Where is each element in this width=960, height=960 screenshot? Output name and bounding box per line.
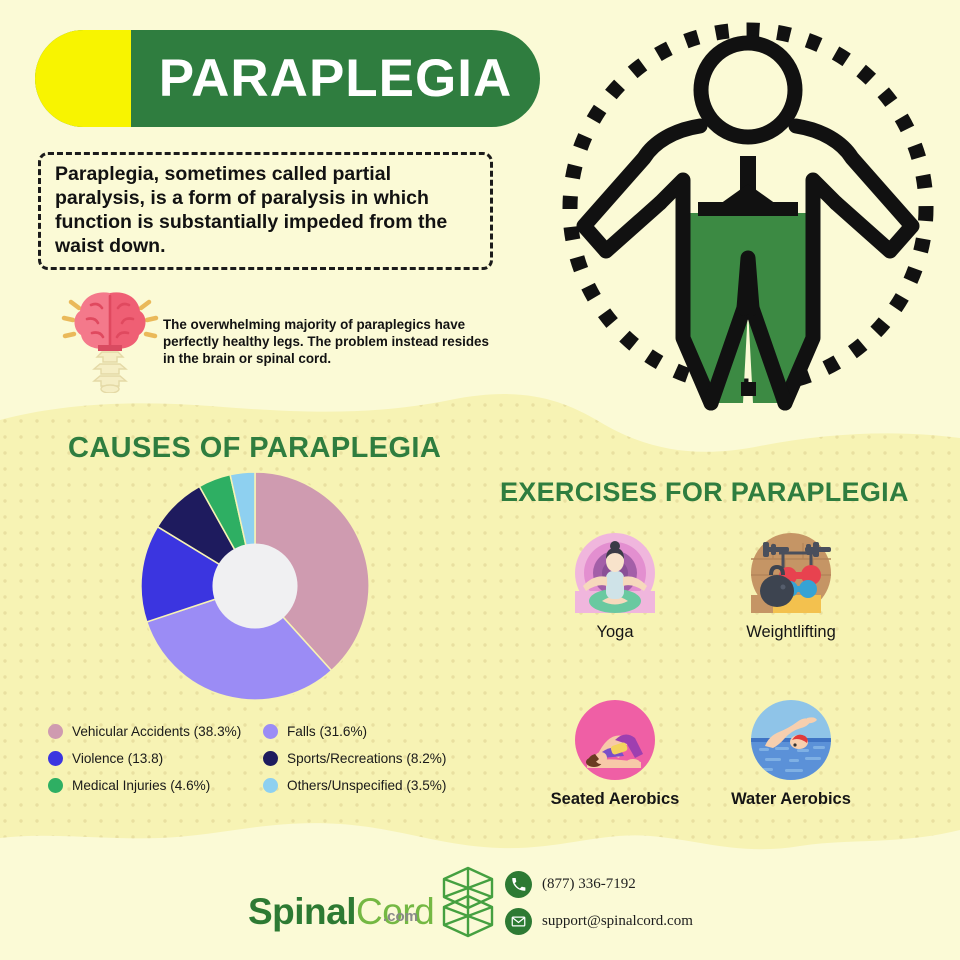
- legend-swatch: [263, 778, 278, 793]
- phone-icon: [505, 871, 532, 898]
- exercise-card-seated-aerobics: Seated Aerobics: [540, 700, 690, 809]
- logo-text-spinal: Spinal: [248, 893, 356, 930]
- logo-text-dotcom: .com: [383, 908, 418, 925]
- phone-number: (877) 336-7192: [542, 876, 636, 893]
- legend-swatch: [263, 724, 278, 739]
- contact-email-row[interactable]: support@spinalcord.com: [505, 905, 835, 938]
- legend-swatch: [48, 724, 63, 739]
- causes-section-title: CAUSES OF PARAPLEGIA: [68, 432, 441, 465]
- legend-label: Vehicular Accidents (38.3%): [72, 724, 241, 739]
- legend-swatch: [48, 778, 63, 793]
- email-address: support@spinalcord.com: [542, 913, 693, 930]
- banner-yellow-cap: [35, 30, 131, 127]
- exercise-label: Seated Aerobics: [540, 790, 690, 809]
- page-title: PARAPLEGIA: [131, 30, 540, 127]
- brain-spinal-cord-icon: [60, 288, 160, 393]
- legend-swatch: [48, 751, 63, 766]
- infographic-page: PARAPLEGIA Paraplegia, sometimes called …: [0, 0, 960, 960]
- legend-row: Vehicular Accidents (38.3%) Falls (31.6%…: [48, 718, 488, 745]
- exercise-card-water-aerobics: Water Aerobics: [716, 700, 866, 809]
- footer: SpinalCord .com (877) 336-7192: [0, 862, 960, 960]
- legend-row: Medical Injuries (4.6%) Others/Unspecifi…: [48, 772, 488, 799]
- title-banner: PARAPLEGIA: [35, 30, 540, 127]
- legend-label: Sports/Recreations (8.2%): [287, 751, 446, 766]
- exercises-section-title: EXERCISES FOR PARAPLEGIA: [500, 477, 909, 508]
- exercise-card-yoga: Yoga: [540, 533, 690, 642]
- fact-text: The overwhelming majority of paraplegics…: [163, 316, 503, 367]
- legend-swatch: [263, 751, 278, 766]
- dumbbell-kettlebell-icon: [751, 533, 831, 613]
- contact-block: (877) 336-7192 support@spinalcord.com: [505, 868, 835, 942]
- legend-item-others-unspecified: Others/Unspecified (3.5%): [263, 778, 446, 793]
- legend-item-medical-injuries: Medical Injuries (4.6%): [48, 778, 263, 793]
- fact-block: The overwhelming majority of paraplegics…: [60, 288, 500, 393]
- description-box: Paraplegia, sometimes called partial par…: [38, 152, 493, 270]
- legend-item-sports-recreations: Sports/Recreations (8.2%): [263, 751, 446, 766]
- causes-donut-chart: [135, 470, 375, 702]
- exercise-card-weightlifting: Weightlifting: [716, 533, 866, 642]
- legend-item-falls: Falls (31.6%): [263, 724, 367, 739]
- seated-aerobics-icon: [575, 700, 655, 780]
- exercise-label: Yoga: [540, 623, 690, 642]
- exercise-label: Water Aerobics: [716, 790, 866, 809]
- human-body-lower-paralysis-icon: [548, 8, 948, 412]
- legend-item-vehicular-accidents: Vehicular Accidents (38.3%): [48, 724, 263, 739]
- legend-item-violence: Violence (13.8): [48, 751, 263, 766]
- envelope-icon: [505, 908, 532, 935]
- spinalcord-hexagon-logo-icon: [440, 866, 496, 938]
- legend-label: Others/Unspecified (3.5%): [287, 778, 446, 793]
- legend-row: Violence (13.8) Sports/Recreations (8.2%…: [48, 745, 488, 772]
- chart-legend: Vehicular Accidents (38.3%) Falls (31.6%…: [48, 718, 488, 799]
- exercise-label: Weightlifting: [716, 623, 866, 642]
- legend-label: Medical Injuries (4.6%): [72, 778, 210, 793]
- legend-label: Violence (13.8): [72, 751, 163, 766]
- yoga-meditation-icon: [575, 533, 655, 613]
- water-aerobics-swimmer-icon: [751, 700, 831, 780]
- donut-hole: [212, 543, 297, 628]
- description-text: Paraplegia, sometimes called partial par…: [41, 163, 490, 258]
- legend-label: Falls (31.6%): [287, 724, 367, 739]
- contact-phone-row[interactable]: (877) 336-7192: [505, 868, 835, 901]
